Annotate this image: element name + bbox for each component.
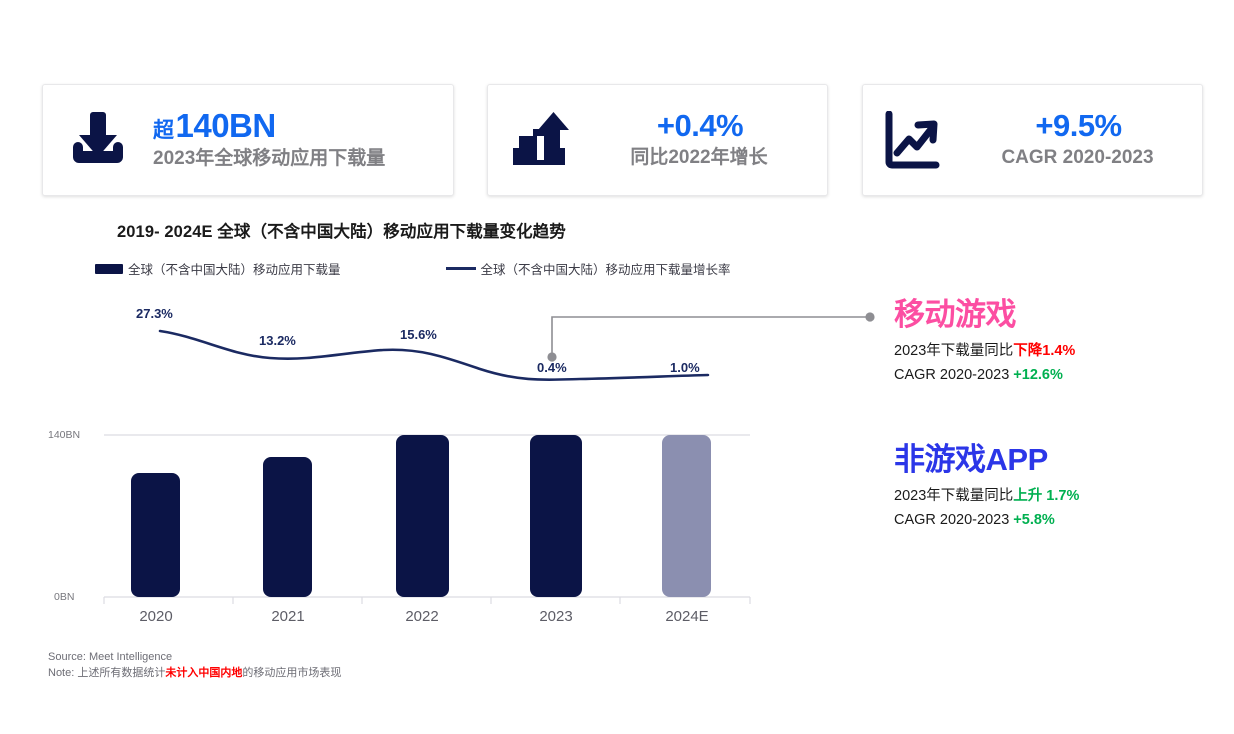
kpi-value: +9.5% bbox=[963, 110, 1202, 143]
kpi-value-number: +0.4% bbox=[657, 108, 743, 143]
annotation-row-prefix: 2023年下载量同比 bbox=[894, 343, 1013, 359]
downloads-bar-svg bbox=[0, 420, 800, 635]
footer-note: Note: 上述所有数据统计未计入中国内地的移动应用市场表现 bbox=[48, 666, 341, 682]
x-tick-label-2020: 2020 bbox=[116, 608, 196, 625]
kpi-label: 同比2022年增长 bbox=[593, 146, 827, 170]
footer-note-emphasis: 未计入中国内地 bbox=[165, 667, 242, 679]
annotation-row-prefix: CAGR 2020-2023 bbox=[894, 367, 1013, 383]
annotation-row-prefix: CAGR 2020-2023 bbox=[894, 512, 1013, 528]
kpi-card-cagr: +9.5% CAGR 2020-2023 bbox=[862, 84, 1203, 196]
annotation-row-cagr: CAGR 2020-2023 +12.6% bbox=[894, 367, 1075, 383]
footer-notes: Source: Meet Intelligence Note: 上述所有数据统计… bbox=[48, 650, 341, 682]
bar-2024e bbox=[662, 435, 711, 597]
download-icon bbox=[43, 111, 153, 169]
annotation-row-emphasis: 上升 1.7% bbox=[1013, 488, 1079, 504]
x-tick-label-2022: 2022 bbox=[382, 608, 462, 625]
annotation-row-yoy: 2023年下载量同比下降1.4% bbox=[894, 339, 1075, 360]
line-point-label-2021: 13.2% bbox=[259, 333, 296, 348]
annotation-row-emphasis: +12.6% bbox=[1013, 367, 1063, 383]
kpi-value: 超140BN bbox=[153, 109, 453, 144]
legend-line-swatch-icon bbox=[446, 267, 476, 270]
kpi-value-number: 140BN bbox=[176, 107, 276, 144]
x-tick-label-2023: 2023 bbox=[516, 608, 596, 625]
bar-growth-icon bbox=[488, 112, 593, 168]
annotation-row-prefix: 2023年下载量同比 bbox=[894, 488, 1013, 504]
kpi-value: +0.4% bbox=[593, 110, 827, 143]
line-point-label-2020: 27.3% bbox=[136, 306, 173, 321]
footer-source: Source: Meet Intelligence bbox=[48, 650, 341, 666]
chart-title: 2019- 2024E 全球（不含中国大陆）移动应用下载量变化趋势 bbox=[117, 218, 566, 242]
kpi-label: 2023年全球移动应用下载量 bbox=[153, 147, 453, 171]
line-trend-icon bbox=[863, 111, 963, 169]
annotation-non-game-apps: 非游戏APP 2023年下载量同比上升 1.7% CAGR 2020-2023 … bbox=[894, 443, 1079, 528]
legend-bar-swatch-icon bbox=[95, 264, 123, 274]
kpi-label: CAGR 2020-2023 bbox=[963, 146, 1202, 170]
footer-note-suffix: 的移动应用市场表现 bbox=[242, 667, 341, 679]
annotation-row-emphasis: 下降1.4% bbox=[1013, 343, 1075, 359]
footer-note-prefix: Note: 上述所有数据统计 bbox=[48, 667, 165, 679]
annotation-heading: 非游戏APP bbox=[894, 443, 1079, 477]
downloads-bar-chart: 140BN 0BN 2020 2021 2022 2023 2024E bbox=[0, 420, 800, 635]
annotation-mobile-games: 移动游戏 2023年下载量同比下降1.4% CAGR 2020-2023 +12… bbox=[894, 298, 1075, 383]
annotation-row-yoy: 2023年下载量同比上升 1.7% bbox=[894, 484, 1079, 505]
kpi-card-row: 超140BN 2023年全球移动应用下载量 +0.4% 同比2022年增长 bbox=[0, 0, 1234, 200]
kpi-card-yoy-growth: +0.4% 同比2022年增长 bbox=[487, 84, 828, 196]
x-tick-label-2021: 2021 bbox=[248, 608, 328, 625]
line-point-label-2022: 15.6% bbox=[400, 327, 437, 342]
x-tick-label-2024e: 2024E bbox=[647, 608, 727, 625]
bar-2023 bbox=[530, 435, 582, 597]
bar-2020 bbox=[131, 473, 180, 597]
legend-item-downloads: 全球（不含中国大陆）移动应用下载量 bbox=[95, 259, 341, 278]
annotation-row-emphasis: +5.8% bbox=[1013, 512, 1055, 528]
kpi-value-prefix: 超 bbox=[153, 119, 174, 142]
kpi-value-number: +9.5% bbox=[1035, 108, 1121, 143]
annotation-row-cagr: CAGR 2020-2023 +5.8% bbox=[894, 512, 1079, 528]
bar-2021 bbox=[263, 457, 312, 597]
y-axis-max-label: 140BN bbox=[48, 429, 80, 441]
callout-connector bbox=[540, 305, 890, 365]
annotation-heading: 移动游戏 bbox=[894, 298, 1075, 332]
legend-label: 全球（不含中国大陆）移动应用下载量增长率 bbox=[481, 259, 731, 278]
bar-2022 bbox=[396, 435, 449, 597]
y-axis-min-label: 0BN bbox=[54, 591, 74, 603]
kpi-card-downloads: 超140BN 2023年全球移动应用下载量 bbox=[42, 84, 454, 196]
legend-item-growth-rate: 全球（不含中国大陆）移动应用下载量增长率 bbox=[446, 259, 731, 278]
chart-legend: 全球（不含中国大陆）移动应用下载量 全球（不含中国大陆）移动应用下载量增长率 bbox=[95, 259, 731, 278]
legend-label: 全球（不含中国大陆）移动应用下载量 bbox=[128, 259, 341, 278]
